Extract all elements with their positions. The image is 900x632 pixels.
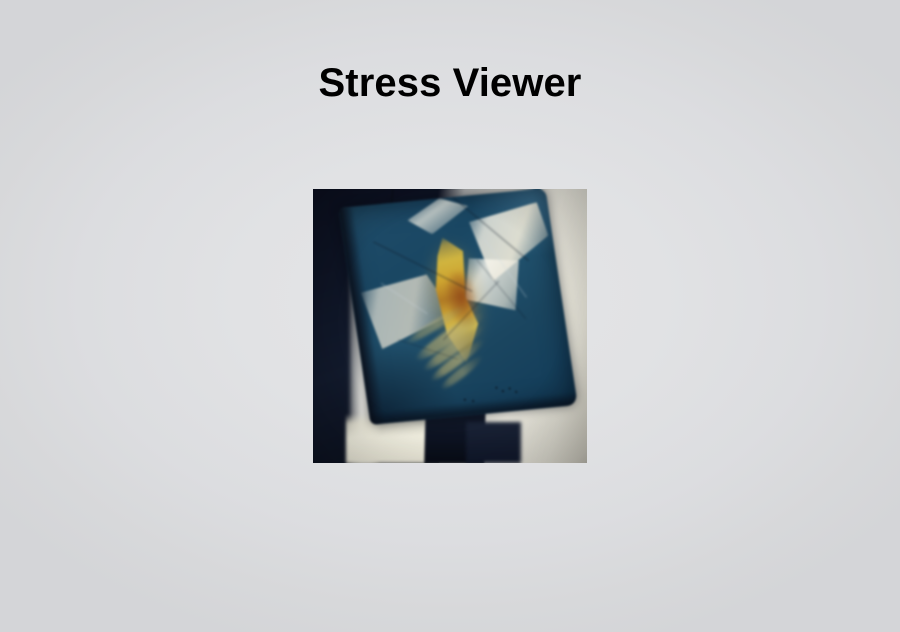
stress-viewer-window: Stress Viewer — [0, 0, 900, 632]
stress-sample-photo[interactable] — [313, 189, 587, 463]
photo-vignette — [313, 189, 587, 463]
photo-canvas — [313, 189, 587, 463]
page-title: Stress Viewer — [0, 60, 900, 106]
